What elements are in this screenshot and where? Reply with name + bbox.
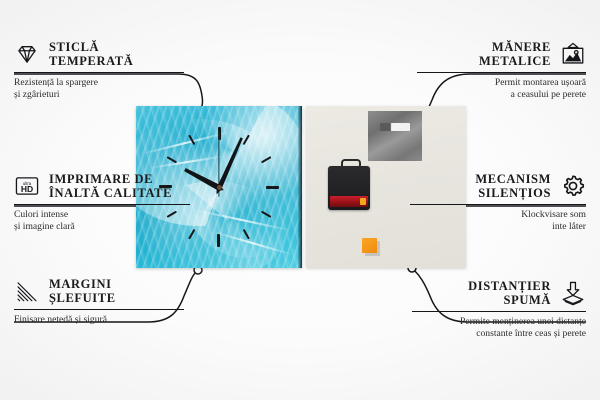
callout-header: MARGINI ȘLEFUITE bbox=[14, 277, 184, 305]
clock-center-pin bbox=[217, 185, 222, 190]
metal-hanger bbox=[368, 111, 422, 161]
mechanism-lug bbox=[341, 159, 361, 170]
callout-title: IMPRIMARE DE ÎNALTĂ CALITATE bbox=[49, 172, 172, 200]
clock-mechanism bbox=[328, 166, 370, 210]
callout-title: DISTANȚIER SPUMĂ bbox=[468, 279, 551, 307]
callout-subtitle: Rezistență la spargere și zgârieturi bbox=[14, 77, 184, 100]
callout-divider bbox=[412, 311, 586, 312]
callout-header: STICLĂ TEMPERATĂ bbox=[14, 40, 184, 68]
callout-distantier-spuma: DISTANȚIER SPUMĂ Permite menținerea unei… bbox=[412, 279, 586, 339]
callout-divider bbox=[410, 204, 586, 205]
callout-title: MĂNERE METALICE bbox=[479, 40, 551, 68]
infographic-canvas: STICLĂ TEMPERATĂ Rezistență la spargere … bbox=[0, 0, 600, 400]
ultra-hd-icon: ultra HD bbox=[14, 173, 40, 199]
callout-subtitle: Finisare netedă și sigură bbox=[14, 314, 184, 325]
callout-subtitle: Permit montarea ușoară a ceasului pe per… bbox=[417, 77, 586, 100]
callout-header: DISTANȚIER SPUMĂ bbox=[412, 279, 586, 307]
hanger-slot bbox=[380, 123, 410, 131]
callout-subtitle: Permite menținerea unei distanțe constan… bbox=[412, 316, 586, 339]
battery bbox=[330, 196, 368, 207]
callout-header: MECANISM SILENȚIOS bbox=[410, 172, 586, 200]
ultra-hd-icon-main-text: HD bbox=[21, 184, 33, 194]
callout-title: MARGINI ȘLEFUITE bbox=[49, 277, 116, 305]
callout-subtitle: Culori intense și imagine clară bbox=[14, 209, 190, 232]
callout-divider bbox=[14, 204, 190, 205]
callout-imprimare-inalta-calitate: ultra HD IMPRIMARE DE ÎNALTĂ CALITATE Cu… bbox=[14, 172, 190, 232]
foam-spacer bbox=[362, 238, 377, 253]
callout-mecanism-silentios: MECANISM SILENȚIOS Klockvisare som inte … bbox=[410, 172, 586, 232]
callout-header: MĂNERE METALICE bbox=[417, 40, 586, 68]
callout-header: ultra HD IMPRIMARE DE ÎNALTĂ CALITATE bbox=[14, 172, 190, 200]
diamond-icon bbox=[14, 41, 40, 67]
callout-divider bbox=[417, 72, 586, 73]
diagonal-lines-icon bbox=[14, 278, 40, 304]
callout-manere-metalice: MĂNERE METALICE Permit montarea ușoară a… bbox=[417, 40, 586, 100]
callout-title: STICLĂ TEMPERATĂ bbox=[49, 40, 133, 68]
callout-divider bbox=[14, 72, 184, 73]
picture-hanger-icon bbox=[560, 41, 586, 67]
callout-divider bbox=[14, 309, 184, 310]
callout-title: MECANISM SILENȚIOS bbox=[475, 172, 551, 200]
callout-margini-slefuite: MARGINI ȘLEFUITE Finisare netedă și sigu… bbox=[14, 277, 184, 326]
gear-icon bbox=[560, 173, 586, 199]
callout-sticla-temperata: STICLĂ TEMPERATĂ Rezistență la spargere … bbox=[14, 40, 184, 100]
arrow-down-layers-icon bbox=[560, 280, 586, 306]
callout-subtitle: Klockvisare som inte låter bbox=[410, 209, 586, 232]
